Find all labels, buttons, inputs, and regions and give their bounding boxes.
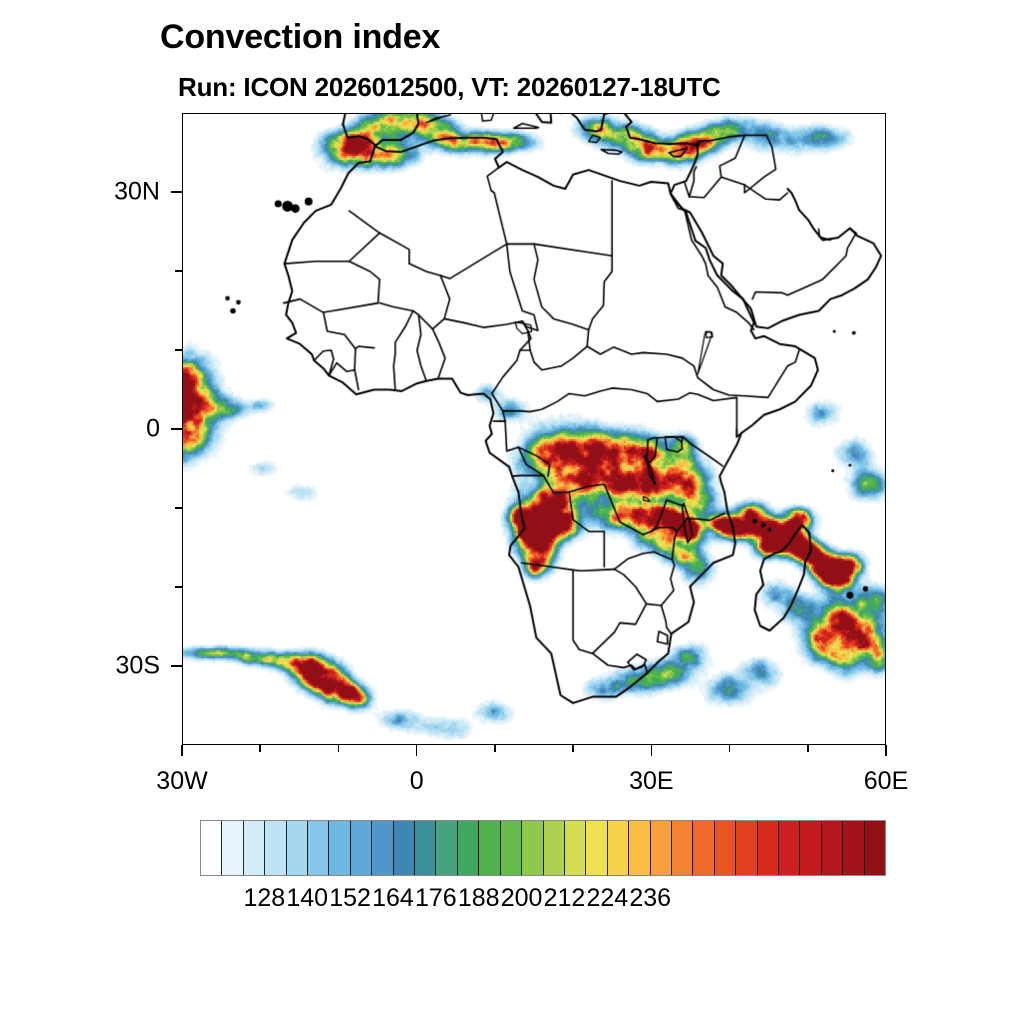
x-axis-label: 30W: [156, 767, 207, 796]
colorbar-cell: [693, 821, 714, 875]
colorbar-cell: [372, 821, 393, 875]
colorbar-cell: [544, 821, 565, 875]
x-axis-label: 60E: [864, 767, 908, 796]
colorbar-cell: [629, 821, 650, 875]
y-axis-label: 30N: [114, 178, 160, 207]
y-axis-label: 30S: [116, 652, 160, 681]
colorbar-cell: [265, 821, 286, 875]
x-tick-minor: [729, 745, 731, 752]
colorbar-cell: [308, 821, 329, 875]
convection-index-figure: Convection index Run: ICON 2026012500, V…: [0, 0, 1024, 1024]
colorbar-cell: [736, 821, 757, 875]
x-tick-major: [416, 745, 418, 756]
colorbar-cell: [800, 821, 821, 875]
map-plot-area[interactable]: [182, 113, 886, 745]
colorbar-tick-label: 140: [286, 884, 328, 913]
colorbar-tick-label: 152: [329, 884, 371, 913]
colorbar-cell: [843, 821, 864, 875]
colorbar-tick-label: 200: [501, 884, 543, 913]
colorbar-tick-label: 236: [629, 884, 671, 913]
colorbar-cell: [501, 821, 522, 875]
y-tick-minor: [175, 270, 182, 272]
y-tick-minor: [175, 349, 182, 351]
colorbar-cell: [436, 821, 457, 875]
colorbar-tick-label: 224: [586, 884, 628, 913]
colorbar-cell: [608, 821, 629, 875]
colorbar-cell: [479, 821, 500, 875]
colorbar-cell: [758, 821, 779, 875]
colorbar-cell: [565, 821, 586, 875]
colorbar-cell: [201, 821, 222, 875]
x-tick-minor: [572, 745, 574, 752]
colorbar-cells: [200, 820, 886, 876]
y-tick-major: [171, 428, 182, 430]
x-tick-minor: [259, 745, 261, 752]
colorbar-tick-label: 188: [458, 884, 500, 913]
x-axis-label: 30E: [629, 767, 673, 796]
colorbar-cell: [351, 821, 372, 875]
colorbar-cell: [586, 821, 607, 875]
convection-index-map: [183, 114, 885, 744]
colorbar-cell: [822, 821, 843, 875]
colorbar-tick-label: 176: [415, 884, 457, 913]
colorbar-tick-labels: 128140152164176188200212224236: [200, 884, 886, 918]
colorbar-cell: [287, 821, 308, 875]
x-tick-major: [651, 745, 653, 756]
x-axis-label: 0: [410, 767, 424, 796]
colorbar-cell: [244, 821, 265, 875]
colorbar-cell: [222, 821, 243, 875]
x-tick-major: [885, 745, 887, 756]
y-tick-major: [171, 665, 182, 667]
x-tick-minor: [338, 745, 340, 752]
colorbar-tick-label: 164: [372, 884, 414, 913]
colorbar-cell: [865, 821, 885, 875]
y-tick-major: [171, 191, 182, 193]
y-axis-label: 0: [146, 415, 160, 444]
x-tick-minor: [494, 745, 496, 752]
colorbar-cell: [329, 821, 350, 875]
colorbar-cell: [394, 821, 415, 875]
run-valid-time-subtitle: Run: ICON 2026012500, VT: 20260127-18UTC: [178, 72, 721, 103]
colorbar-tick-label: 212: [544, 884, 586, 913]
colorbar-cell: [458, 821, 479, 875]
y-tick-minor: [175, 586, 182, 588]
x-tick-major: [181, 745, 183, 756]
page-title: Convection index: [160, 18, 440, 57]
colorbar-tick-label: 128: [243, 884, 285, 913]
colorbar-cell: [715, 821, 736, 875]
colorbar-cell: [522, 821, 543, 875]
x-tick-minor: [807, 745, 809, 752]
colorbar-cell: [672, 821, 693, 875]
colorbar-cell: [415, 821, 436, 875]
colorbar-cell: [651, 821, 672, 875]
y-tick-minor: [175, 507, 182, 509]
colorbar-cell: [779, 821, 800, 875]
colorbar[interactable]: [200, 820, 886, 876]
